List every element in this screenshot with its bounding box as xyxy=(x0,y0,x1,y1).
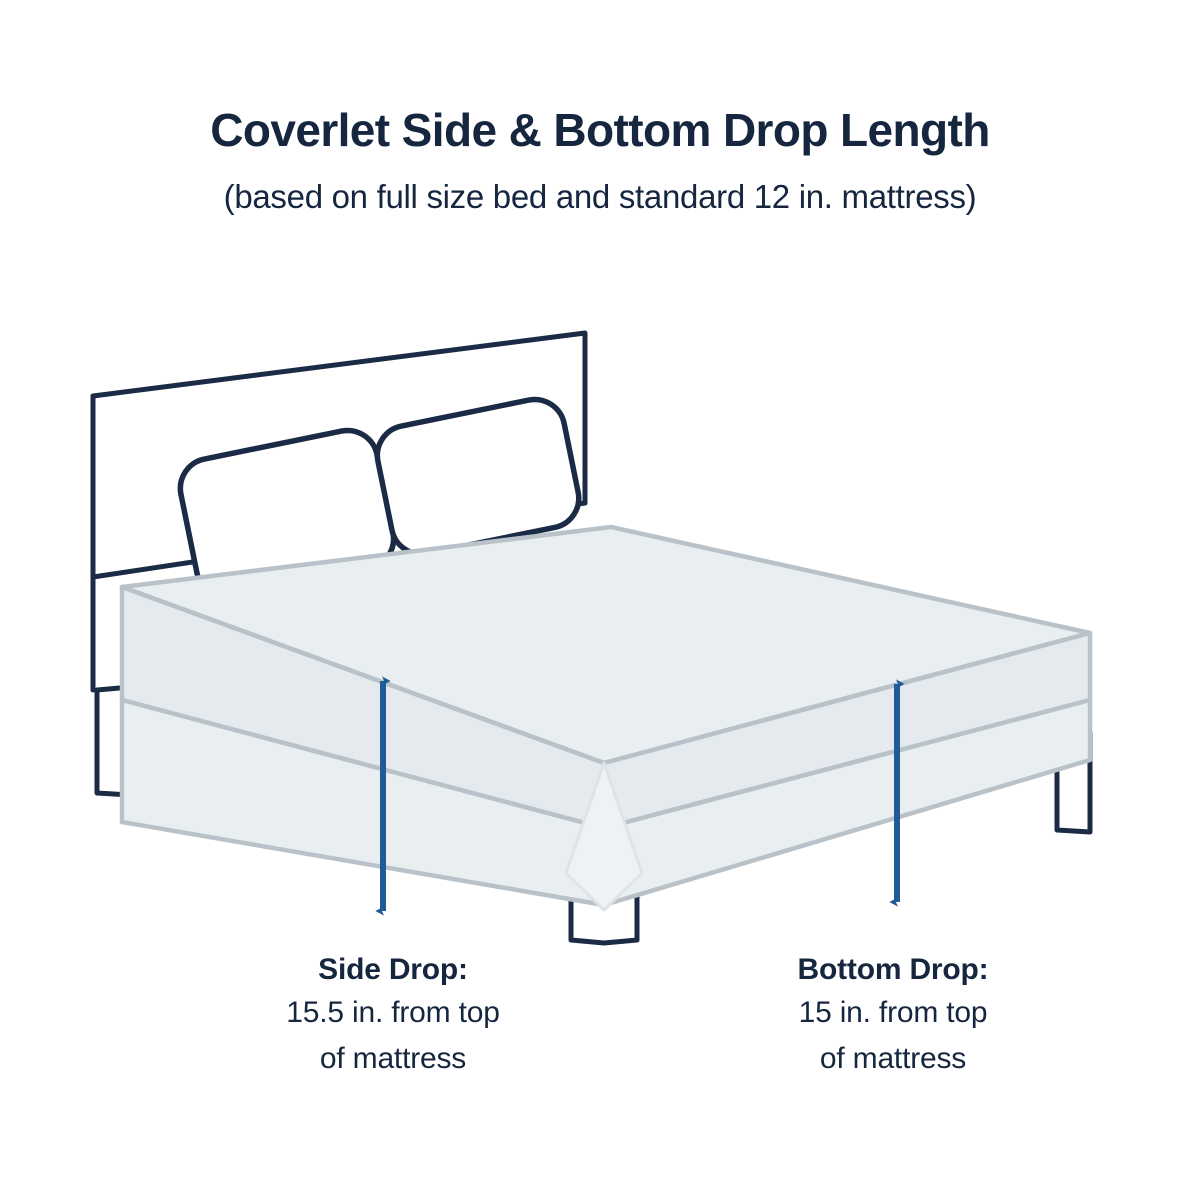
bottom-drop-label: Bottom Drop: xyxy=(728,950,1058,990)
side-drop-value-line: 15.5 in. from top xyxy=(228,990,558,1037)
bottom-drop-reference-line: of mattress xyxy=(728,1036,1058,1083)
coverlet-drop-length-infographic: Coverlet Side & Bottom Drop Length (base… xyxy=(0,0,1200,1200)
coverlet-group xyxy=(122,527,1090,910)
side-drop-label: Side Drop: xyxy=(228,950,558,990)
side-drop-caption: Side Drop: 15.5 in. from top of mattress xyxy=(228,950,558,1083)
side-drop-reference-line: of mattress xyxy=(228,1036,558,1083)
bottom-drop-value-line: 15 in. from top xyxy=(728,990,1058,1037)
bottom-drop-caption: Bottom Drop: 15 in. from top of mattress xyxy=(728,950,1058,1083)
